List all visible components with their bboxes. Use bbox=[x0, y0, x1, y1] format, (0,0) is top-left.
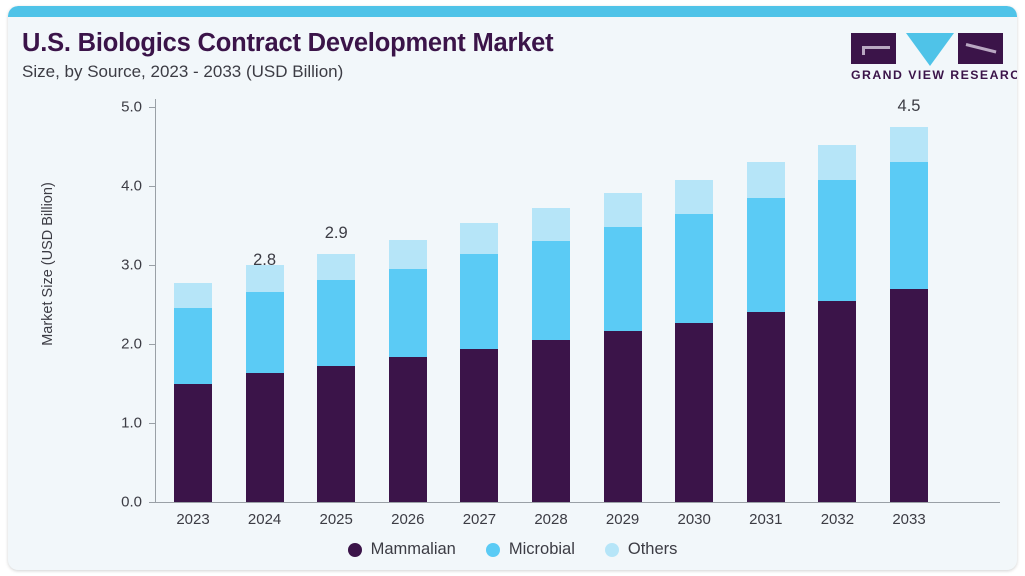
bar-segment-mammalian[interactable] bbox=[747, 312, 785, 502]
legend-item-mammalian[interactable]: Mammalian bbox=[348, 540, 456, 559]
x-tick-label: 2027 bbox=[444, 511, 514, 528]
bar-group[interactable] bbox=[174, 107, 212, 502]
bar-group[interactable] bbox=[460, 107, 498, 502]
y-tick-label: 5.0 bbox=[96, 99, 142, 116]
bar-segment-microbial[interactable] bbox=[317, 280, 355, 366]
x-tick-label: 2029 bbox=[588, 511, 658, 528]
bar-value-label: 2.9 bbox=[301, 224, 371, 243]
bar-group[interactable] bbox=[532, 107, 570, 502]
y-tick-mark bbox=[149, 502, 155, 503]
y-tick-mark bbox=[149, 107, 155, 108]
x-tick-label: 2025 bbox=[301, 511, 371, 528]
x-tick-label: 2026 bbox=[373, 511, 443, 528]
legend-label: Microbial bbox=[509, 540, 575, 559]
bar-segment-mammalian[interactable] bbox=[174, 384, 212, 503]
legend-swatch-icon bbox=[348, 543, 362, 557]
bar-segment-mammalian[interactable] bbox=[389, 357, 427, 502]
bar-segment-microbial[interactable] bbox=[460, 254, 498, 349]
x-tick-label: 2024 bbox=[230, 511, 300, 528]
y-tick-mark bbox=[149, 186, 155, 187]
legend-swatch-icon bbox=[486, 543, 500, 557]
bar-group[interactable] bbox=[675, 107, 713, 502]
y-axis-title: Market Size (USD Billion) bbox=[40, 124, 56, 404]
bar-segment-microbial[interactable] bbox=[747, 198, 785, 312]
bar-group[interactable] bbox=[818, 107, 856, 502]
chart-screenshot: U.S. Biologics Contract Development Mark… bbox=[0, 0, 1025, 576]
x-tick-label: 2023 bbox=[158, 511, 228, 528]
bar-segment-mammalian[interactable] bbox=[460, 349, 498, 502]
y-tick-mark bbox=[149, 265, 155, 266]
bar-segment-microbial[interactable] bbox=[604, 227, 642, 330]
y-axis-line bbox=[155, 99, 156, 503]
y-tick-label: 2.0 bbox=[96, 336, 142, 353]
bar-segment-others[interactable] bbox=[389, 240, 427, 269]
y-tick-label: 3.0 bbox=[96, 257, 142, 274]
bar-segment-others[interactable] bbox=[174, 283, 212, 307]
bar-segment-microbial[interactable] bbox=[532, 241, 570, 341]
y-tick-label: 0.0 bbox=[96, 494, 142, 511]
y-tick-mark bbox=[149, 344, 155, 345]
bar-segment-mammalian[interactable] bbox=[890, 289, 928, 502]
chart-legend: MammalianMicrobialOthers bbox=[8, 540, 1017, 559]
x-tick-label: 2032 bbox=[802, 511, 872, 528]
bar-group[interactable] bbox=[604, 107, 642, 502]
bar-group[interactable] bbox=[317, 107, 355, 502]
bar-segment-others[interactable] bbox=[532, 208, 570, 240]
bar-group[interactable] bbox=[389, 107, 427, 502]
bar-segment-microbial[interactable] bbox=[389, 269, 427, 357]
bar-segment-others[interactable] bbox=[460, 223, 498, 254]
bar-segment-microbial[interactable] bbox=[675, 214, 713, 323]
bar-segment-mammalian[interactable] bbox=[604, 331, 642, 502]
bar-group[interactable] bbox=[890, 107, 928, 502]
x-tick-label: 2028 bbox=[516, 511, 586, 528]
bar-group[interactable] bbox=[246, 107, 284, 502]
chart-card: U.S. Biologics Contract Development Mark… bbox=[8, 6, 1017, 570]
bar-segment-others[interactable] bbox=[317, 254, 355, 280]
x-axis-line bbox=[155, 502, 1000, 503]
y-tick-label: 1.0 bbox=[96, 415, 142, 432]
legend-label: Mammalian bbox=[371, 540, 456, 559]
legend-swatch-icon bbox=[605, 543, 619, 557]
bar-value-label: 4.5 bbox=[874, 97, 944, 116]
bar-segment-others[interactable] bbox=[890, 127, 928, 163]
bar-segment-mammalian[interactable] bbox=[532, 340, 570, 502]
bar-segment-microbial[interactable] bbox=[174, 308, 212, 384]
bar-segment-microbial[interactable] bbox=[818, 180, 856, 300]
y-tick-mark bbox=[149, 423, 155, 424]
bar-segment-microbial[interactable] bbox=[246, 292, 284, 373]
bar-group[interactable] bbox=[747, 107, 785, 502]
bar-segment-mammalian[interactable] bbox=[246, 373, 284, 502]
legend-item-microbial[interactable]: Microbial bbox=[486, 540, 575, 559]
bar-segment-others[interactable] bbox=[818, 145, 856, 181]
legend-label: Others bbox=[628, 540, 678, 559]
legend-item-others[interactable]: Others bbox=[605, 540, 678, 559]
bar-segment-mammalian[interactable] bbox=[317, 366, 355, 502]
bar-segment-others[interactable] bbox=[675, 180, 713, 214]
x-tick-label: 2033 bbox=[874, 511, 944, 528]
y-tick-label: 4.0 bbox=[96, 178, 142, 195]
bar-segment-mammalian[interactable] bbox=[818, 301, 856, 502]
bar-segment-others[interactable] bbox=[747, 162, 785, 198]
bar-value-label: 2.8 bbox=[230, 251, 300, 270]
bar-chart-plot: Market Size (USD Billion) 0.01.02.03.04.… bbox=[8, 6, 1017, 570]
bar-segment-mammalian[interactable] bbox=[675, 323, 713, 502]
x-tick-label: 2030 bbox=[659, 511, 729, 528]
bar-segment-microbial[interactable] bbox=[890, 162, 928, 288]
bar-segment-others[interactable] bbox=[604, 193, 642, 227]
x-tick-label: 2031 bbox=[731, 511, 801, 528]
